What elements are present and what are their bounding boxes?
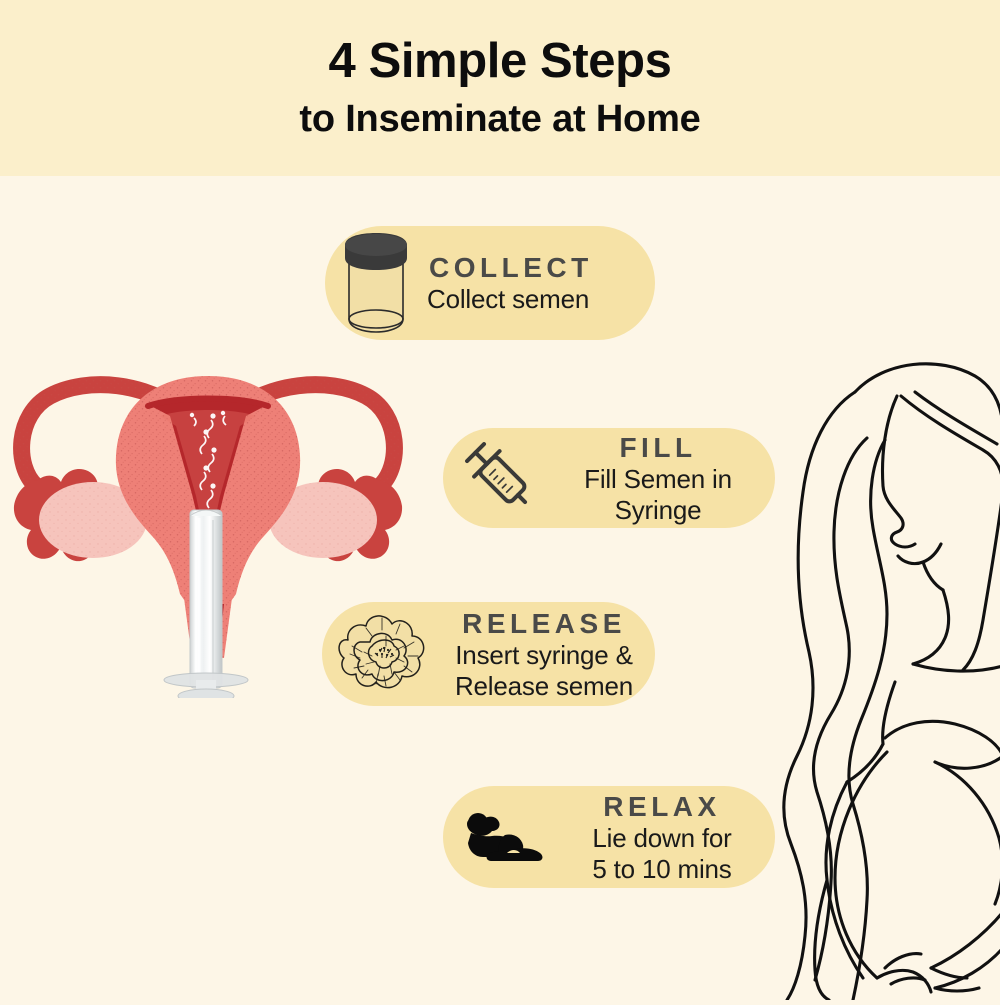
step-card-fill[interactable]: FILL Fill Semen in Syringe	[443, 428, 775, 528]
step-card-relax-text: RELAX Lie down for 5 to 10 mins	[553, 790, 771, 884]
step-description-fill-line1: Fill Semen in	[584, 464, 732, 495]
page-subtitle: to Inseminate at Home	[299, 100, 700, 140]
step-card-collect[interactable]: COLLECT Collect semen	[325, 226, 655, 340]
step-description-relax-line1: Lie down for	[592, 823, 731, 854]
pregnant-woman-line-art-illustration	[735, 352, 1000, 1000]
step-description-release-line1: Insert syringe &	[455, 640, 632, 671]
step-card-relax[interactable]: RELAX Lie down for 5 to 10 mins	[443, 786, 775, 888]
step-card-release[interactable]: RELEASE Insert syringe & Release semen	[322, 602, 655, 706]
infographic-canvas: 4 Simple Steps to Inseminate at Home	[0, 0, 1000, 1000]
step-card-fill-text: FILL Fill Semen in Syringe	[553, 431, 763, 525]
header-banner: 4 Simple Steps to Inseminate at Home	[0, 0, 1000, 176]
syringe-icon	[459, 436, 543, 520]
step-description-collect: Collect semen	[427, 284, 589, 315]
person-lying-down-icon	[461, 809, 545, 865]
step-description-release-line2: Release semen	[455, 671, 633, 702]
specimen-jar-icon	[339, 231, 413, 335]
step-heading-collect: COLLECT	[427, 251, 593, 284]
step-heading-fill: FILL	[619, 431, 696, 464]
step-description-fill-line2: Syringe	[615, 495, 702, 526]
step-heading-relax: RELAX	[603, 790, 720, 823]
step-description-relax-line2: 5 to 10 mins	[592, 854, 731, 885]
step-card-collect-text: COLLECT Collect semen	[427, 251, 593, 315]
step-card-release-text: RELEASE Insert syringe & Release semen	[436, 607, 652, 701]
page-title: 4 Simple Steps	[329, 36, 672, 87]
step-heading-release: RELEASE	[462, 607, 626, 640]
flower-icon	[334, 606, 434, 702]
